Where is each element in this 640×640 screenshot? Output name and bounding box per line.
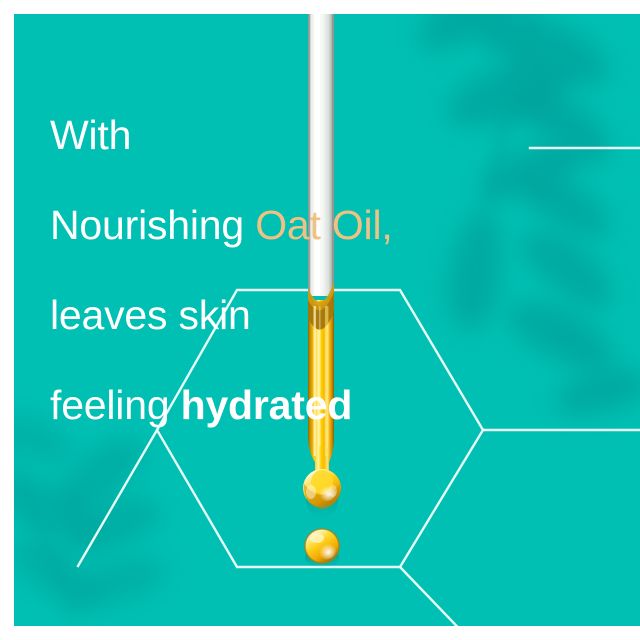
headline-line-4-prefix: feeling [50,382,181,428]
headline-line-4: feeling hydrated [50,383,470,428]
banner-canvas: With Nourishing Oat Oil, leaves skin fee… [0,0,640,640]
teal-background: With Nourishing Oat Oil, leaves skin fee… [14,14,640,626]
headline-line-2-prefix: Nourishing [50,202,255,248]
headline-block: With Nourishing Oat Oil, leaves skin fee… [50,68,470,473]
headline-accent-oat-oil: Oat Oil, [255,202,392,248]
hex-edge-bottom-right-diagonal [400,567,472,626]
headline-bold-hydrated: hydrated [181,382,353,428]
headline-line-1: With [50,113,470,158]
headline-line-2: Nourishing Oat Oil, [50,203,470,248]
headline-line-3: leaves skin [50,293,470,338]
